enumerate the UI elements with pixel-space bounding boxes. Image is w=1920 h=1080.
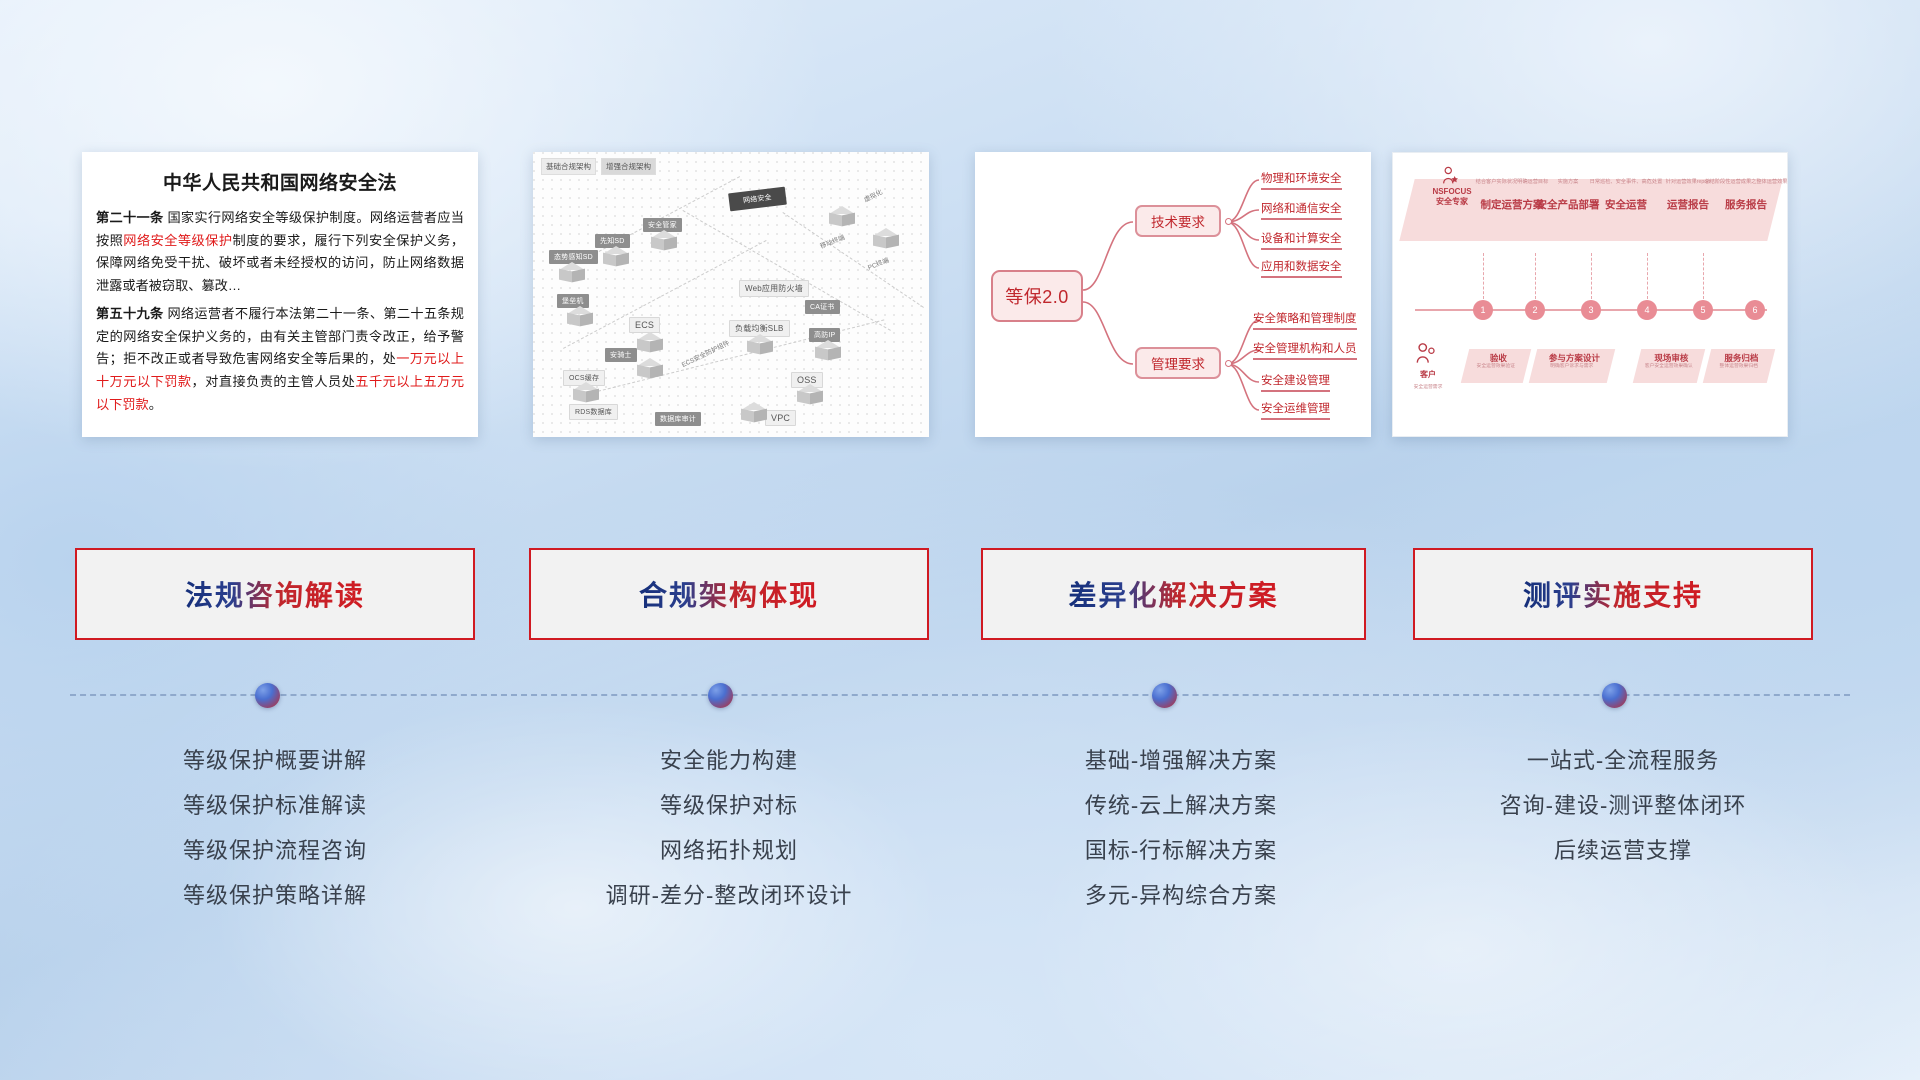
heading-box-differentiated-solution[interactable]: 差异化解决方案: [981, 548, 1366, 640]
node-ca-certificate: CA证书: [805, 300, 840, 314]
mindmap-leaf: 安全策略和管理制度: [1253, 310, 1357, 330]
detail-lists-row: 等级保护概要讲解 等级保护标准解读 等级保护流程咨询 等级保护策略详解 安全能力…: [0, 738, 1920, 968]
timeline-step-5-title: 服务报告: [1703, 197, 1788, 212]
node-web-application-firewall: Web应用防火墙: [739, 280, 809, 297]
cube-icon: [747, 334, 773, 354]
bottom-chip-1-sub: 安全运营效果验证: [1465, 364, 1527, 370]
label-virtualization: 虚拟化: [862, 186, 884, 204]
detail-list-2: 安全能力构建 等级保护对标 网络拓扑规划 调研-差分-整改闭环设计: [529, 738, 929, 918]
mindmap-leaf: 安全管理机构和人员: [1253, 340, 1357, 360]
security-expert-icon: [1440, 165, 1462, 187]
law-article-21-highlight: 网络安全等级保护: [123, 233, 232, 248]
law-title: 中华人民共和国网络安全法: [96, 168, 464, 195]
detail-list-1: 等级保护概要讲解 等级保护标准解读 等级保护流程咨询 等级保护策略详解: [75, 738, 475, 918]
mindmap-leaf: 网络和通信安全: [1261, 200, 1342, 220]
heading-box-regulation-consulting[interactable]: 法规咨询解读: [75, 548, 475, 640]
timeline-marker-5[interactable]: 5: [1693, 300, 1713, 320]
card-cybersecurity-law[interactable]: 中华人民共和国网络安全法 第二十一条 国家实行网络安全等级保护制度。网络运营者应…: [82, 152, 478, 437]
cube-icon: [873, 228, 903, 254]
card-compliance-architecture[interactable]: 基础合规架构 增强合规架构 网络安全 安全管家 先知SD 态势感知SD 堡垒机 …: [533, 152, 929, 437]
heading-label-1: 法规咨询解读: [185, 574, 365, 614]
timeline-dashed-axis: [70, 694, 1850, 696]
law-content: 中华人民共和国网络安全法 第二十一条 国家实行网络安全等级保护制度。网络运营者应…: [82, 152, 478, 431]
list-item: 安全能力构建: [529, 738, 929, 783]
bottom-chip-4-sub: 整体运营效果归档: [1707, 364, 1771, 370]
node-rds-database: RDS数据库: [569, 404, 618, 420]
mindmap-branch-management: 管理要求: [1135, 347, 1221, 379]
cube-icon: [637, 332, 663, 352]
heading-box-compliance-architecture[interactable]: 合规架构体现: [529, 548, 929, 640]
cube-icon: [637, 358, 663, 378]
node-anqishi: 安骑士: [605, 348, 637, 362]
list-item: 等级保护流程咨询: [75, 828, 475, 873]
timeline-stem: [1483, 253, 1484, 299]
timeline-stem: [1535, 253, 1536, 299]
cube-icon: [797, 384, 823, 404]
mindmap-leaf: 物理和环境安全: [1261, 170, 1342, 190]
timeline-marker-3[interactable]: 3: [1581, 300, 1601, 320]
axis-marker-1[interactable]: [255, 683, 280, 708]
bottom-chip-1[interactable]: 验收 安全运营效果验证: [1461, 349, 1531, 383]
law-article-59-text-b: ，对直接负责的主管人员处: [192, 374, 356, 389]
node-database-audit: 数据库审计: [655, 412, 701, 426]
architecture-tabs[interactable]: 基础合规架构 增强合规架构: [541, 158, 656, 175]
heading-label-4: 测评实施支持: [1523, 574, 1703, 614]
bottom-chip-3-title: 现场审核: [1639, 349, 1703, 364]
list-item: 等级保护对标: [529, 783, 929, 828]
timeline-marker-6[interactable]: 6: [1745, 300, 1765, 320]
timeline-stem: [1591, 253, 1592, 299]
mindmap-leaf: 安全建设管理: [1261, 372, 1330, 392]
bottom-chip-2[interactable]: 参与方案设计 明确客户诉求与需求: [1529, 349, 1615, 383]
mindmap: 等保2.0 技术要求 管理要求 物理和环境安全 网络和通信安全 设备和计算安全 …: [975, 152, 1371, 437]
list-item: 后续运营支撑: [1413, 828, 1833, 873]
list-item: 基础-增强解决方案: [981, 738, 1381, 783]
preview-cards-row: 中华人民共和国网络安全法 第二十一条 国家实行网络安全等级保护制度。网络运营者应…: [0, 152, 1920, 437]
card-nsfocus-operation-timeline[interactable]: NSFOCUS 安全专家 结合客户实际状况明确运营目标 制定运营方案 实施方案 …: [1392, 152, 1788, 437]
axis-marker-4[interactable]: [1602, 683, 1627, 708]
cube-icon: [815, 340, 841, 360]
list-item: 传统-云上解决方案: [981, 783, 1381, 828]
mindmap-branch-technical: 技术要求: [1135, 205, 1221, 237]
timeline-marker-1[interactable]: 1: [1473, 300, 1493, 320]
bottom-chip-2-sub: 明确客户诉求与需求: [1533, 364, 1611, 370]
node-vpc: VPC: [765, 410, 796, 426]
mindmap-leaf: 应用和数据安全: [1261, 258, 1342, 278]
customer-sub: 安全运营需求: [1395, 383, 1461, 390]
timeline-stem: [1703, 253, 1704, 299]
cube-icon: [559, 262, 585, 282]
mindmap-node-dot[interactable]: [1225, 218, 1232, 225]
mindmap-root: 等保2.0: [991, 270, 1083, 322]
cube-icon: [651, 230, 677, 250]
heading-box-evaluation-support[interactable]: 测评实施支持: [1413, 548, 1813, 640]
customer-label: 客户: [1405, 369, 1451, 380]
headings-row: 法规咨询解读 合规架构体现 差异化解决方案 测评实施支持: [0, 548, 1920, 640]
heading-label-2: 合规架构体现: [639, 574, 819, 614]
bottom-chip-2-title: 参与方案设计: [1535, 349, 1613, 364]
timeline-marker-2[interactable]: 2: [1525, 300, 1545, 320]
node-network-security: 网络安全: [728, 187, 787, 212]
law-article-21-label: 第二十一条: [96, 210, 163, 225]
timeline-marker-4[interactable]: 4: [1637, 300, 1657, 320]
heading-label-3: 差异化解决方案: [1068, 574, 1278, 614]
list-item: 多元-异构综合方案: [981, 873, 1381, 918]
mindmap-leaf: 安全运维管理: [1261, 400, 1330, 420]
detail-list-4: 一站式-全流程服务 咨询-建设-测评整体闭环 后续运营支撑: [1413, 738, 1833, 873]
timeline-step-5[interactable]: 总结阶段性运营成果之整体运营效果 服务报告: [1703, 179, 1788, 212]
list-item: 等级保护概要讲解: [75, 738, 475, 783]
cube-icon: [741, 402, 767, 422]
label-mobile-terminal: 移动终端: [818, 231, 846, 250]
bottom-chip-4-title: 服务归档: [1709, 349, 1773, 364]
mindmap-leaf: 设备和计算安全: [1261, 230, 1342, 250]
bottom-chip-1-title: 验收: [1467, 349, 1529, 364]
list-item: 咨询-建设-测评整体闭环: [1413, 783, 1833, 828]
timeline-band-content: NSFOCUS 安全专家 结合客户实际状况明确运营目标 制定运营方案 实施方案 …: [1407, 179, 1775, 241]
mindmap-node-dot[interactable]: [1225, 360, 1232, 367]
list-item: 等级保护标准解读: [75, 783, 475, 828]
axis-marker-2[interactable]: [708, 683, 733, 708]
node-ecs: ECS: [629, 317, 660, 333]
axis-marker-3[interactable]: [1152, 683, 1177, 708]
bottom-chip-4[interactable]: 服务归档 整体运营效果归档: [1703, 349, 1775, 383]
timeline-step-5-sub: 总结阶段性运营成果之整体运营效果: [1703, 179, 1788, 185]
cube-icon: [829, 206, 859, 232]
list-item: 等级保护策略详解: [75, 873, 475, 918]
architecture-diagram: 基础合规架构 增强合规架构 网络安全 安全管家 先知SD 态势感知SD 堡垒机 …: [533, 152, 929, 437]
law-article-59-text-c: 。: [149, 397, 162, 412]
plane-line: [683, 210, 891, 331]
list-item: 一站式-全流程服务: [1413, 738, 1833, 783]
customer-icon: [1413, 341, 1439, 367]
card-mindmap-dengbao[interactable]: 等保2.0 技术要求 管理要求 物理和环境安全 网络和通信安全 设备和计算安全 …: [975, 152, 1371, 437]
bottom-chip-3[interactable]: 现场审核 客户安全运营效果确认: [1633, 349, 1705, 383]
cube-icon: [567, 306, 593, 326]
list-item: 调研-差分-整改闭环设计: [529, 873, 929, 918]
label-pc-terminal: PC终端: [866, 254, 890, 272]
timeline-stem: [1647, 253, 1648, 299]
cube-icon: [603, 246, 629, 266]
law-article-59: 第五十九条 网络运营者不履行本法第二十一条、第二十五条规定的网络安全保护义务的，…: [96, 303, 464, 417]
bottom-chip-3-sub: 客户安全运营效果确认: [1637, 364, 1701, 370]
operation-timeline: NSFOCUS 安全专家 结合客户实际状况明确运营目标 制定运营方案 实施方案 …: [1392, 152, 1788, 437]
tab-basic-architecture[interactable]: 基础合规架构: [541, 158, 596, 175]
law-article-59-label: 第五十九条: [96, 306, 163, 321]
detail-list-3: 基础-增强解决方案 传统-云上解决方案 国标-行标解决方案 多元-异构综合方案: [981, 738, 1381, 918]
tab-enhanced-architecture[interactable]: 增强合规架构: [601, 158, 656, 175]
list-item: 网络拓扑规划: [529, 828, 929, 873]
law-article-21: 第二十一条 国家实行网络安全等级保护制度。网络运营者应当按照网络安全等级保护制度…: [96, 207, 464, 298]
list-item: 国标-行标解决方案: [981, 828, 1381, 873]
cube-icon: [573, 382, 599, 402]
